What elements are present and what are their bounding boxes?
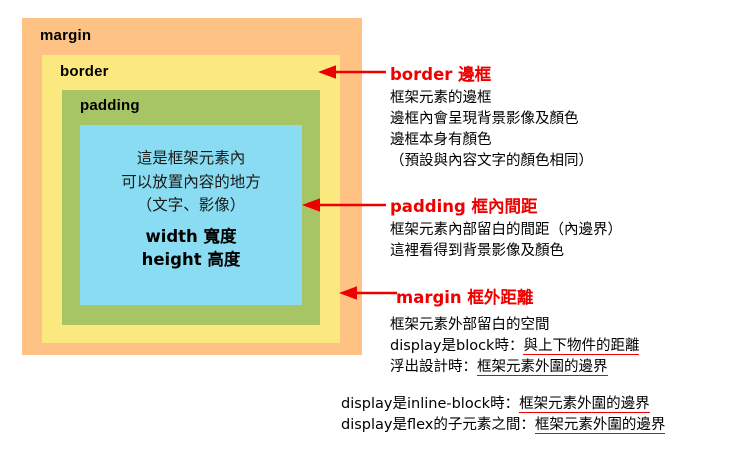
border-annotation-body: 框架元素的邊框 邊框內會呈現背景影像及顏色 邊框本身有顏色 （預設與內容文字的顏… [390, 88, 593, 172]
display-inline-block-line: display是inline-block時：框架元素外圍的邊界 [341, 394, 665, 415]
padding-layer: padding 這是框架元素內 可以放置內容的地方 （文字、影像） width … [62, 90, 320, 325]
content-height-label: height 高度 [80, 248, 302, 271]
padding-annotation-body: 框架元素內部留白的間距（內邊界） 這裡看得到背景影像及顏色 [390, 220, 622, 262]
margin-annotation-line-1: 框架元素外部留白的空間 [390, 315, 639, 336]
content-width-label: width 寬度 [80, 225, 302, 248]
display-modes-annotation: display是inline-block時：框架元素外圍的邊界 display是… [341, 394, 665, 436]
margin-layer-label: margin [40, 27, 91, 44]
margin-annotation-line-3-prefix: 浮出設計時： [390, 359, 477, 375]
margin-annotation-line-2-prefix: display是block時： [390, 338, 523, 354]
margin-annotation-heading: margin 框外距離 [396, 284, 533, 308]
margin-annotation-body: 框架元素外部留白的空間 display是block時：與上下物件的距離 浮出設計… [390, 315, 639, 378]
display-flex-underlined: 框架元素外圍的邊界 [535, 417, 666, 434]
margin-annotation-line-2: display是block時：與上下物件的距離 [390, 336, 639, 357]
border-annotation-line-3: 邊框本身有顏色 [390, 130, 593, 151]
content-line-1: 這是框架元素內 [80, 147, 302, 171]
border-annotation-line-2: 邊框內會呈現背景影像及顏色 [390, 109, 593, 130]
content-description: 這是框架元素內 可以放置內容的地方 （文字、影像） [80, 147, 302, 218]
border-layer-label: border [60, 63, 109, 80]
margin-layer: margin border padding 這是框架元素內 可以放置內容的地方 … [22, 18, 362, 355]
border-annotation-line-1: 框架元素的邊框 [390, 88, 593, 109]
border-annotation-heading: border 邊框 [390, 61, 491, 85]
display-flex-line: display是flex的子元素之間：框架元素外圍的邊界 [341, 415, 665, 436]
border-annotation-line-4: （預設與內容文字的顏色相同） [390, 151, 593, 172]
padding-annotation-line-2: 這裡看得到背景影像及顏色 [390, 241, 622, 262]
padding-annotation-heading: padding 框內間距 [390, 193, 538, 217]
content-line-2: 可以放置內容的地方 [80, 171, 302, 195]
content-line-3: （文字、影像） [80, 194, 302, 218]
margin-annotation-line-3: 浮出設計時：框架元素外圍的邊界 [390, 357, 639, 378]
content-layer: 這是框架元素內 可以放置內容的地方 （文字、影像） width 寬度 heigh… [80, 125, 302, 305]
display-flex-prefix: display是flex的子元素之間： [341, 417, 535, 433]
display-inline-block-underlined: 框架元素外圍的邊界 [519, 396, 650, 413]
margin-annotation-line-2-underlined: 與上下物件的距離 [523, 338, 639, 355]
padding-layer-label: padding [80, 97, 140, 114]
box-model-diagram: margin border padding 這是框架元素內 可以放置內容的地方 … [22, 18, 362, 355]
content-dimensions: width 寬度 height 高度 [80, 225, 302, 272]
border-layer: border padding 這是框架元素內 可以放置內容的地方 （文字、影像）… [42, 55, 340, 343]
margin-annotation-line-3-underlined: 框架元素外圍的邊界 [477, 359, 608, 376]
padding-annotation-line-1: 框架元素內部留白的間距（內邊界） [390, 220, 622, 241]
display-inline-block-prefix: display是inline-block時： [341, 396, 519, 412]
